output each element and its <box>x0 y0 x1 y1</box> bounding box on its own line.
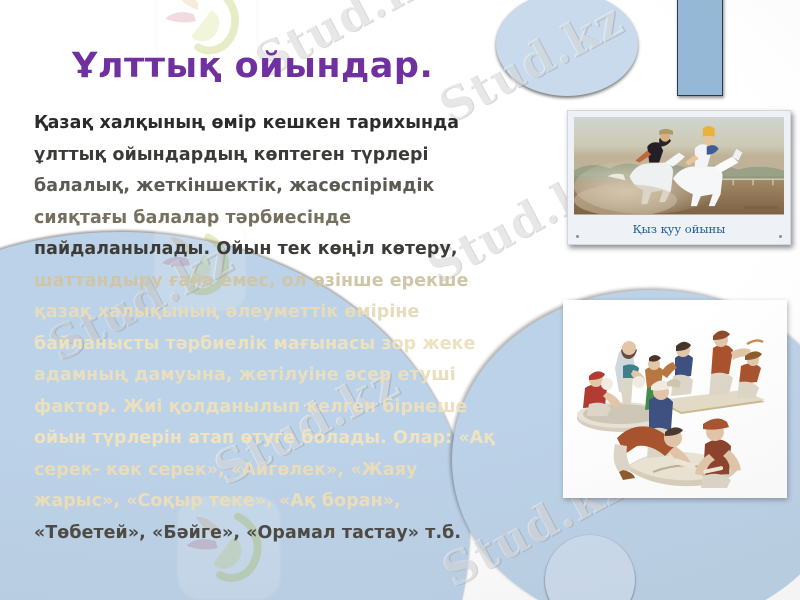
decorative-bar-top-right <box>677 0 723 96</box>
body-line: шаттандыру ғана емес, ол өзінше ерекше <box>34 266 554 298</box>
body-line: жарыс», «Соқыр теке», «Ақ боран», <box>34 486 554 518</box>
presentation-slide: Stud.kz Stud.kz Stud.kz Stud.kz Stud.kz … <box>0 0 800 600</box>
body-line: «Төбетей», «Бәйге», «Орамал тастау» т.б. <box>34 518 554 550</box>
body-line: адамның дамуына, жетілуіне әсер етуші <box>34 360 554 392</box>
pin-left-icon <box>576 235 579 238</box>
body-line: сияқтағы балалар тәрбиесінде <box>34 203 554 235</box>
photo-caption: Қыз қуу ойыны <box>574 215 784 236</box>
photo-card-kyz-kuu: Қыз қуу ойыны <box>567 110 791 245</box>
slide-title: Ұлттық ойындар. <box>72 46 433 86</box>
body-line: серек- көк серек», «Айгөлек», «Жаяу <box>34 455 554 487</box>
body-line: ұлттық ойындардың көптеген түрлері <box>34 140 554 172</box>
body-line: Қазақ халқының өмір кешкен тарихында <box>34 108 554 140</box>
body-line: қазақ халықының әлеуметтік өміріне <box>34 297 554 329</box>
body-line: ойын түрлерін атап өтуге болады. Олар: «… <box>34 423 554 455</box>
body-line: байланысты тәрбиелік мағынасы зор жеке <box>34 329 554 361</box>
slide-body-text: Қазақ халқының өмір кешкен тарихында ұлт… <box>34 108 554 549</box>
figurines-photo <box>563 300 787 498</box>
body-line: пайдаланылады. Ойын тек көңіл көтеру, <box>34 234 554 266</box>
body-line: балалық, жеткіншектік, жасөспірімдік <box>34 171 554 203</box>
body-line: фактор. Жиі қолданылып келген бірнеше <box>34 392 554 424</box>
decorative-oval-top <box>496 0 638 96</box>
pin-right-icon <box>779 235 782 238</box>
horse-race-photo <box>574 117 784 215</box>
